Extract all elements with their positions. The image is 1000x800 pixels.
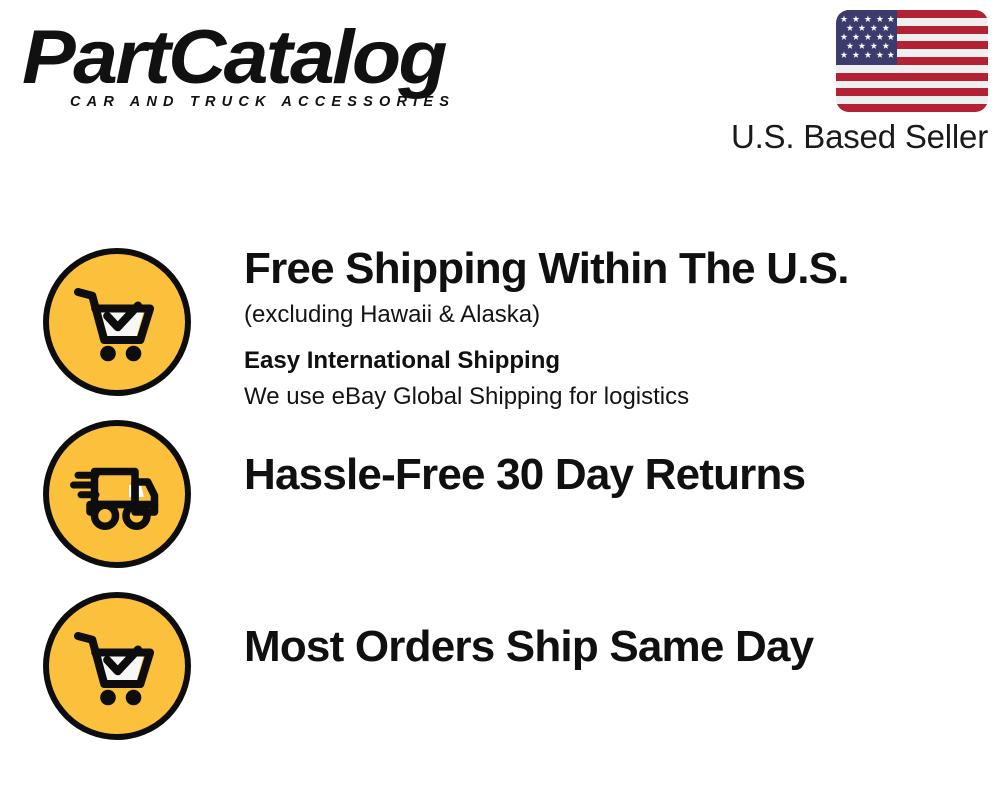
flag-canton (836, 10, 897, 65)
feature-title: Free Shipping Within The U.S. (244, 242, 1000, 296)
feature-title: Most Orders Ship Same Day (244, 620, 1000, 674)
feature-row: Free Shipping Within The U.S. (excluding… (0, 238, 1000, 410)
feature-subheading: Easy International Shipping (244, 344, 1000, 378)
feature-list: Free Shipping Within The U.S. (excluding… (0, 238, 1000, 754)
feature-row: Most Orders Ship Same Day (0, 582, 1000, 754)
feature-subtext: We use eBay Global Shipping for logistic… (244, 380, 1000, 414)
seller-label: U.S. Based Seller (688, 118, 988, 156)
feature-title: Hassle-Free 30 Day Returns (244, 448, 1000, 502)
shipping-info-banner: PartCatalog CAR AND TRUCK ACCESSORIES (0, 0, 1000, 800)
us-flag-icon (836, 10, 988, 112)
feature-text: Most Orders Ship Same Day (191, 582, 1000, 674)
brand-wordmark: PartCatalog (22, 18, 520, 98)
feature-text: Free Shipping Within The U.S. (excluding… (191, 238, 1000, 414)
shopping-cart-check-icon (43, 248, 191, 396)
us-based-seller-block: U.S. Based Seller (688, 10, 988, 156)
feature-note: (excluding Hawaii & Alaska) (244, 298, 1000, 332)
feature-row: Hassle-Free 30 Day Returns (0, 410, 1000, 582)
shopping-cart-check-icon (43, 592, 191, 740)
feature-text: Hassle-Free 30 Day Returns (191, 410, 1000, 502)
brand-logo: PartCatalog CAR AND TRUCK ACCESSORIES (22, 18, 492, 120)
delivery-truck-icon (43, 420, 191, 568)
